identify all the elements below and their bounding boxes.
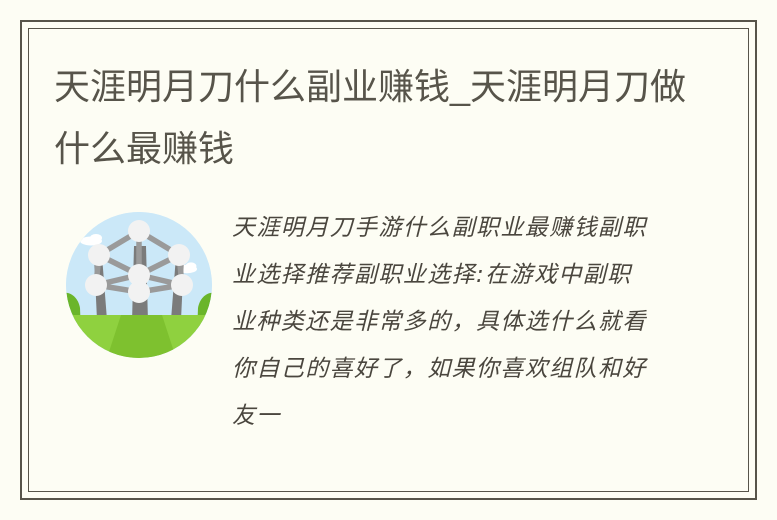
article-thumbnail	[66, 212, 212, 358]
atomium-illustration-icon	[66, 212, 212, 358]
article-excerpt: 天涯明月刀手游什么副职业最赚钱副职业选择推荐副职业选择:在游戏中副职业种类还是非…	[232, 205, 652, 467]
article-body: 天涯明月刀手游什么副职业最赚钱副职业选择推荐副职业选择:在游戏中副职业种类还是非…	[54, 205, 714, 467]
page-root: 天涯明月刀什么副业赚钱_天涯明月刀做什么最赚钱	[0, 0, 777, 520]
page-title: 天涯明月刀什么副业赚钱_天涯明月刀做什么最赚钱	[54, 56, 694, 180]
